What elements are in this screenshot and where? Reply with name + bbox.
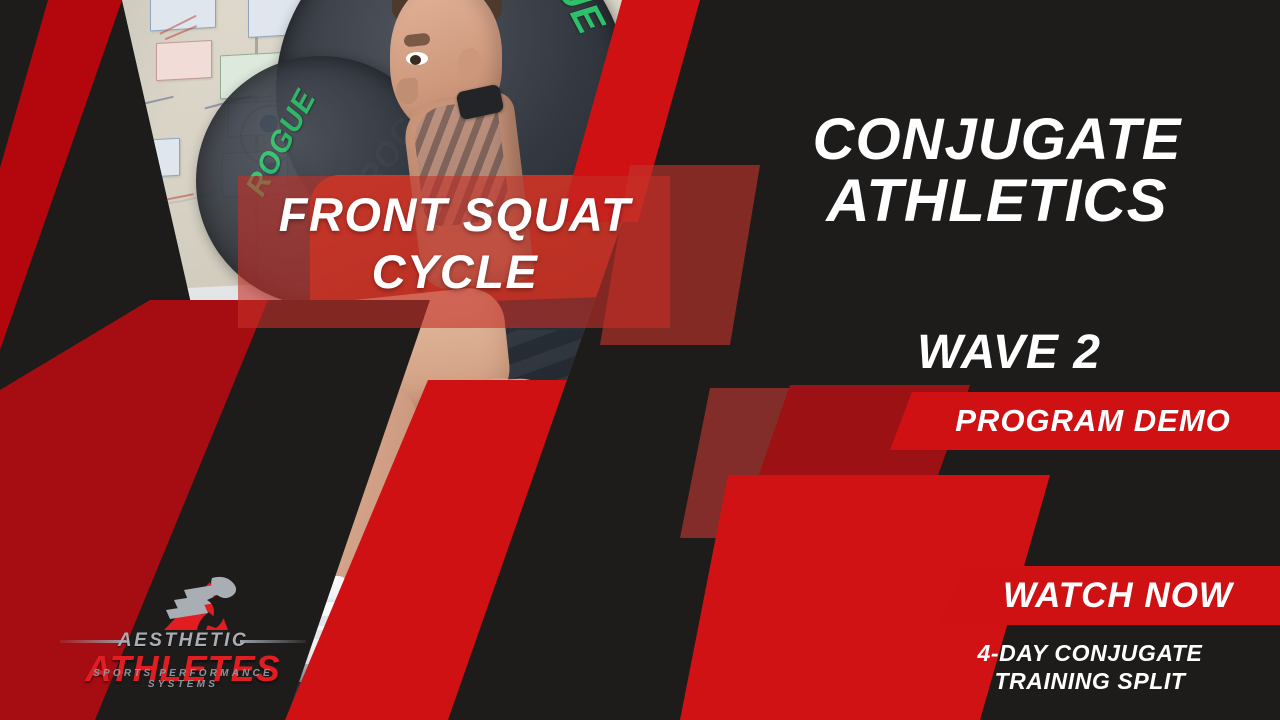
brand-title: CONJUGATE ATHLETICS: [742, 110, 1252, 232]
brand-title-line2: ATHLETICS: [742, 170, 1252, 232]
brand-title-line1: CONJUGATE: [813, 107, 1182, 172]
subline-line1: 4-DAY CONJUGATE: [978, 640, 1203, 666]
subline-line2: TRAINING SPLIT: [994, 668, 1185, 694]
running-athlete-icon: [154, 572, 266, 632]
overlay-title: FRONT SQUAT CYCLE: [200, 186, 710, 301]
athlete-ear: [458, 48, 482, 78]
logo-tagline: SPORTS PERFORMANCE SYSTEMS: [58, 668, 308, 690]
overlay-title-line1: FRONT SQUAT: [279, 188, 631, 241]
overlay-title-line2: CYCLE: [372, 245, 539, 298]
brand-logo: AESTHETIC ATHLETES SPORTS PERFORMANCE SY…: [58, 572, 308, 684]
program-demo-banner: PROGRAM DEMO: [890, 392, 1280, 450]
watch-now-button[interactable]: WATCH NOW: [940, 566, 1280, 625]
wave-label: WAVE 2: [760, 325, 1258, 380]
subline: 4-DAY CONJUGATE TRAINING SPLIT: [900, 640, 1280, 695]
youtube-thumbnail: DOING ROGUE: [0, 0, 1280, 720]
